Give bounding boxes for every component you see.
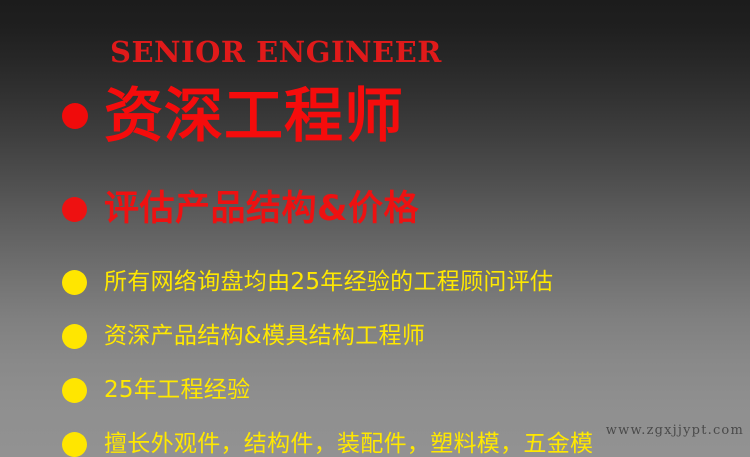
list-item-label: 资深产品结构&模具结构工程师 <box>104 322 425 351</box>
list-item-label: 所有网络询盘均由25年经验的工程顾问评估 <box>104 268 553 297</box>
list-item: 25年工程经验 <box>62 376 250 405</box>
list-item-label: 25年工程经验 <box>104 376 250 405</box>
subheading-text: 评估产品结构&价格 <box>104 188 419 230</box>
promo-banner: SENIOR ENGINEER 资深工程师 评估产品结构&价格 所有网络询盘均由… <box>0 0 750 457</box>
yellow-bullet-icon <box>62 432 87 457</box>
list-item: 所有网络询盘均由25年经验的工程顾问评估 <box>62 268 553 297</box>
list-item: 资深产品结构&模具结构工程师 <box>62 322 425 351</box>
red-bullet-icon <box>62 103 88 129</box>
main-title-row: 资深工程师 <box>62 83 404 149</box>
main-title-text: 资深工程师 <box>104 83 404 149</box>
list-item: 擅长外观件，结构件，装配件，塑料模，五金模 <box>62 430 593 457</box>
list-item-label: 擅长外观件，结构件，装配件，塑料模，五金模 <box>104 430 593 457</box>
yellow-bullet-icon <box>62 324 87 349</box>
yellow-bullet-icon <box>62 378 87 403</box>
red-bullet-icon <box>62 197 87 222</box>
yellow-bullet-icon <box>62 270 87 295</box>
watermark-url: www.zgxjjypt.com <box>606 423 744 438</box>
subheading-row: 评估产品结构&价格 <box>62 188 419 230</box>
english-headline: SENIOR ENGINEER <box>110 38 442 67</box>
